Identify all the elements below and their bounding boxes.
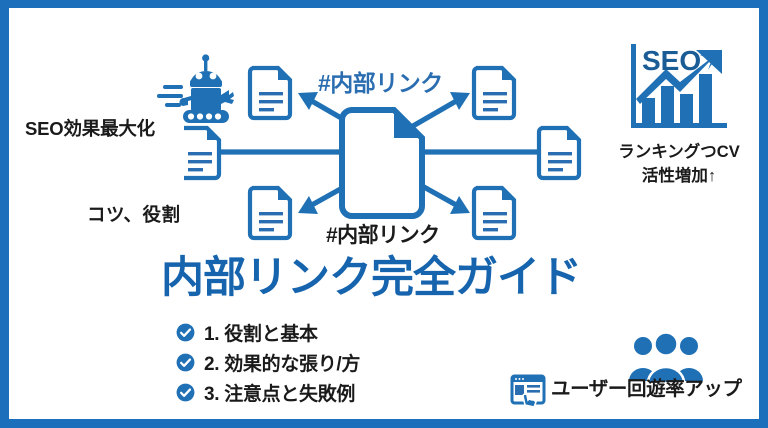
spoke-document-bottom-left [250, 188, 290, 238]
label-tips-role: コツ、役割 [87, 204, 181, 225]
list-item: 1. 役割と基本 [176, 319, 360, 345]
check-circle-icon [176, 323, 195, 342]
page-title: 内部リンク完全ガイド [161, 257, 581, 300]
check-circle-icon [176, 383, 195, 402]
spoke-document-right [539, 128, 579, 178]
spoke-document-top-right [474, 68, 514, 118]
hashtag-internal-link-top: #内部リンク [318, 70, 443, 96]
checklist: 1. 役割と基本 2. 効果的な張り/方 3. [176, 319, 360, 405]
seo-wordmark: SEO [642, 45, 701, 76]
center-document-icon [342, 110, 422, 216]
label-activity-increase: 活性増加↑ [606, 167, 752, 186]
list-item-label: 2. 効果的な張り/方 [204, 349, 360, 376]
list-item: 3. 注意点と失敗例 [176, 379, 360, 405]
list-item-label: 1. 役割と基本 [204, 319, 318, 346]
spoke-document-bottom-right [474, 188, 514, 238]
browser-click-icon [510, 374, 546, 408]
list-item-label: 3. 注意点と失敗例 [204, 379, 355, 406]
label-ranking-cv: ランキングつCV [606, 143, 752, 162]
label-user-circulation-rate: ユーザー回遊率アップ [551, 378, 742, 400]
check-circle-icon [176, 353, 195, 372]
user-group-icon [627, 332, 705, 384]
spoke-document-top-left [250, 68, 290, 118]
hashtag-internal-link-bottom: #内部リンク [326, 224, 440, 248]
label-seo-effect-max: SEO効果最大化 [25, 118, 155, 139]
infographic-inner-panel: SEO効果最大化 コツ、役割 SEO [9, 8, 759, 419]
infographic-canvas: SEO効果最大化 コツ、役割 SEO [0, 0, 768, 428]
seo-growth-chart-icon: SEO [618, 32, 740, 138]
list-item: 2. 効果的な張り/方 [176, 349, 360, 375]
spoke-document-left [184, 128, 219, 178]
